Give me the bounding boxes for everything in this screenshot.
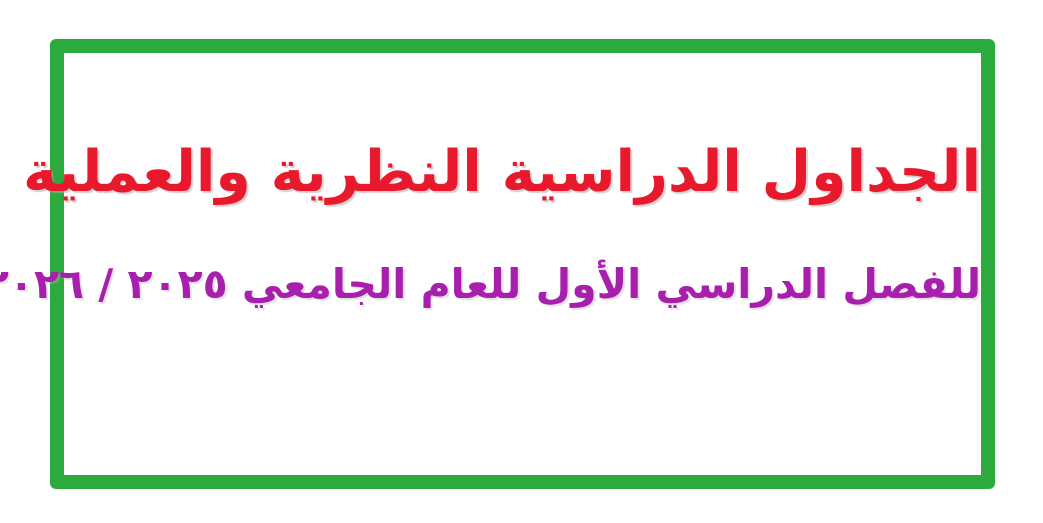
poster-subheadline: للفصل الدراسي الأول للعام الجامعي ٢٠٢٥ /…: [64, 260, 981, 308]
poster-canvas: الجداول الدراسية النظرية والعملية للفصل …: [0, 0, 1043, 523]
green-border-frame: الجداول الدراسية النظرية والعملية للفصل …: [50, 39, 995, 489]
poster-content: الجداول الدراسية النظرية والعملية للفصل …: [64, 53, 981, 475]
poster-headline: الجداول الدراسية النظرية والعملية: [64, 139, 981, 206]
